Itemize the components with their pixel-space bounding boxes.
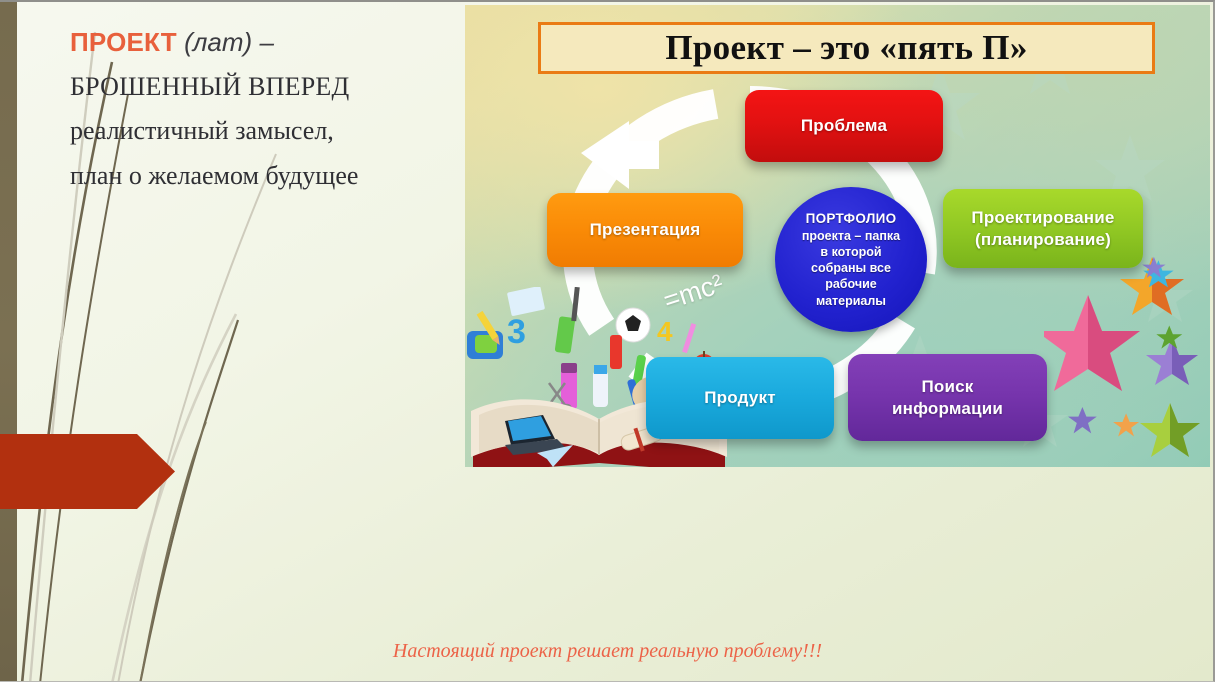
node-design-label: Проектирование (планирование) xyxy=(971,207,1114,250)
centre-portfolio-ellipse[interactable]: ПОРТФОЛИО проекта – папка в которой собр… xyxy=(775,187,927,332)
centre-portfolio-text: ПОРТФОЛИО проекта – папка в которой собр… xyxy=(796,210,906,309)
svg-text:3: 3 xyxy=(507,313,526,351)
dash: – xyxy=(259,27,273,57)
definition-line-3: реалистичный замысел, xyxy=(70,109,450,154)
definition-line-1: ПРОЕКТ (лат) – xyxy=(70,20,450,65)
node-problem-label: Проблема xyxy=(801,115,887,136)
node-design[interactable]: Проектирование (планирование) xyxy=(943,189,1143,268)
centre-line4: рабочие xyxy=(825,277,877,291)
node-search-label-line2: информации xyxy=(892,399,1003,418)
centre-line5: материалы xyxy=(816,294,886,308)
presentation-slide: ПРОЕКТ (лат) – БРОШЕННЫЙ ВПЕРЕД реалисти… xyxy=(0,0,1215,682)
centre-line1: проекта – папка xyxy=(802,229,900,243)
centre-line3: собраны все xyxy=(811,261,891,275)
node-design-label-line1: Проектирование xyxy=(971,208,1114,227)
latin-note: (лат) xyxy=(184,27,252,57)
centre-line2: в которой xyxy=(820,245,881,259)
centre-title: ПОРТФОЛИО xyxy=(806,211,897,226)
left-olive-strip xyxy=(0,2,17,682)
definition-line-4: план о желаемом будущее xyxy=(70,154,450,199)
node-problem[interactable]: Проблема xyxy=(745,90,943,162)
diagram-title-banner: Проект – это «пять П» xyxy=(538,22,1155,74)
left-text-block: ПРОЕКТ (лат) – БРОШЕННЫЙ ВПЕРЕД реалисти… xyxy=(70,20,450,199)
node-presentation-label: Презентация xyxy=(590,219,701,240)
keyword-proekt: ПРОЕКТ xyxy=(70,27,177,57)
node-presentation[interactable]: Презентация xyxy=(547,193,743,267)
diagram-image-panel: 3 4 xyxy=(465,5,1210,467)
svg-text:4: 4 xyxy=(657,316,673,347)
node-product[interactable]: Продукт xyxy=(646,357,834,439)
node-product-label: Продукт xyxy=(704,387,775,408)
arrow-banner-shape xyxy=(0,434,175,509)
node-search-label-line1: Поиск xyxy=(921,377,973,396)
node-search[interactable]: Поиск информации xyxy=(848,354,1047,441)
node-design-label-line2: (планирование) xyxy=(975,230,1111,249)
diagram-title: Проект – это «пять П» xyxy=(665,28,1027,68)
definition-line-2: БРОШЕННЫЙ ВПЕРЕД xyxy=(70,65,450,110)
footer-caption: Настоящий проект решает реальную проблем… xyxy=(0,640,1215,663)
stars-icon xyxy=(1044,255,1210,467)
node-search-label: Поиск информации xyxy=(892,376,1003,419)
